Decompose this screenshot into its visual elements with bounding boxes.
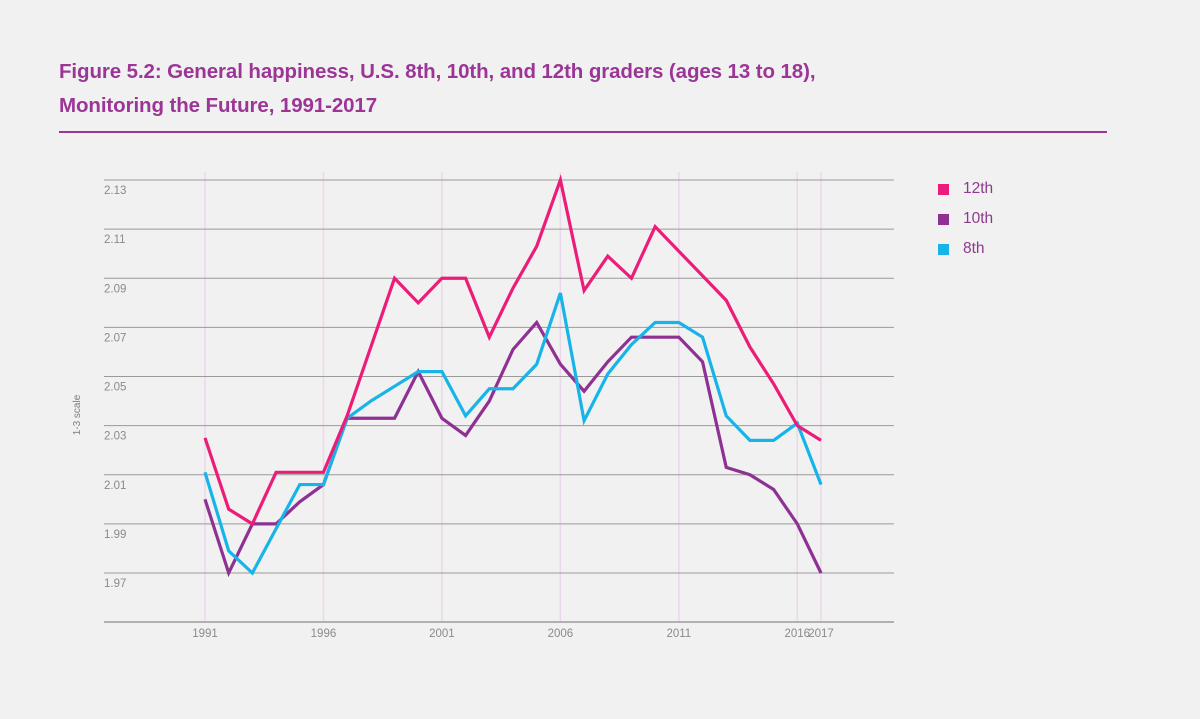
y-tick-label: 2.09	[104, 283, 126, 295]
y-axis-tick-labels: 2.132.112.092.072.052.032.011.991.97	[104, 185, 126, 590]
legend-item-10th[interactable]: 10th	[938, 204, 993, 234]
y-tick-label: 2.03	[104, 431, 126, 443]
chart-svg: 2.132.112.092.072.052.032.011.991.97 199…	[0, 0, 1200, 719]
x-axis-tick-labels: 1991199620012006201120162017	[192, 628, 834, 640]
x-tick-label: 2011	[666, 628, 691, 640]
y-tick-label: 1.99	[104, 529, 126, 541]
x-tick-label: 2016	[785, 628, 811, 640]
vertical-gridlines	[205, 172, 821, 621]
y-tick-label: 2.07	[104, 332, 126, 344]
chart-legend: 12th 10th 8th	[938, 174, 993, 264]
x-tick-label: 1996	[311, 628, 337, 640]
legend-item-8th[interactable]: 8th	[938, 234, 993, 264]
legend-label-10th: 10th	[963, 210, 993, 228]
legend-swatch-12th	[938, 184, 949, 195]
x-tick-label: 2001	[429, 628, 455, 640]
series-line-10th	[205, 322, 821, 573]
legend-label-12th: 12th	[963, 180, 993, 198]
x-tick-label: 2006	[548, 628, 574, 640]
x-tick-label: 1991	[192, 628, 218, 640]
series-line-8th	[205, 293, 821, 573]
y-tick-label: 2.11	[104, 234, 126, 246]
y-tick-label: 2.13	[104, 185, 126, 197]
figure-page: Figure 5.2: General happiness, U.S. 8th,…	[0, 0, 1200, 719]
line-chart: 2.132.112.092.072.052.032.011.991.97 199…	[0, 0, 1200, 719]
legend-label-8th: 8th	[963, 240, 985, 258]
y-tick-label: 2.05	[104, 382, 126, 394]
legend-swatch-10th	[938, 214, 949, 225]
y-axis-title: 1-3 scale	[72, 394, 83, 435]
legend-item-12th[interactable]: 12th	[938, 174, 993, 204]
legend-swatch-8th	[938, 244, 949, 255]
y-tick-label: 2.01	[104, 480, 126, 492]
x-tick-label: 2017	[808, 628, 834, 640]
y-tick-label: 1.97	[104, 578, 126, 590]
